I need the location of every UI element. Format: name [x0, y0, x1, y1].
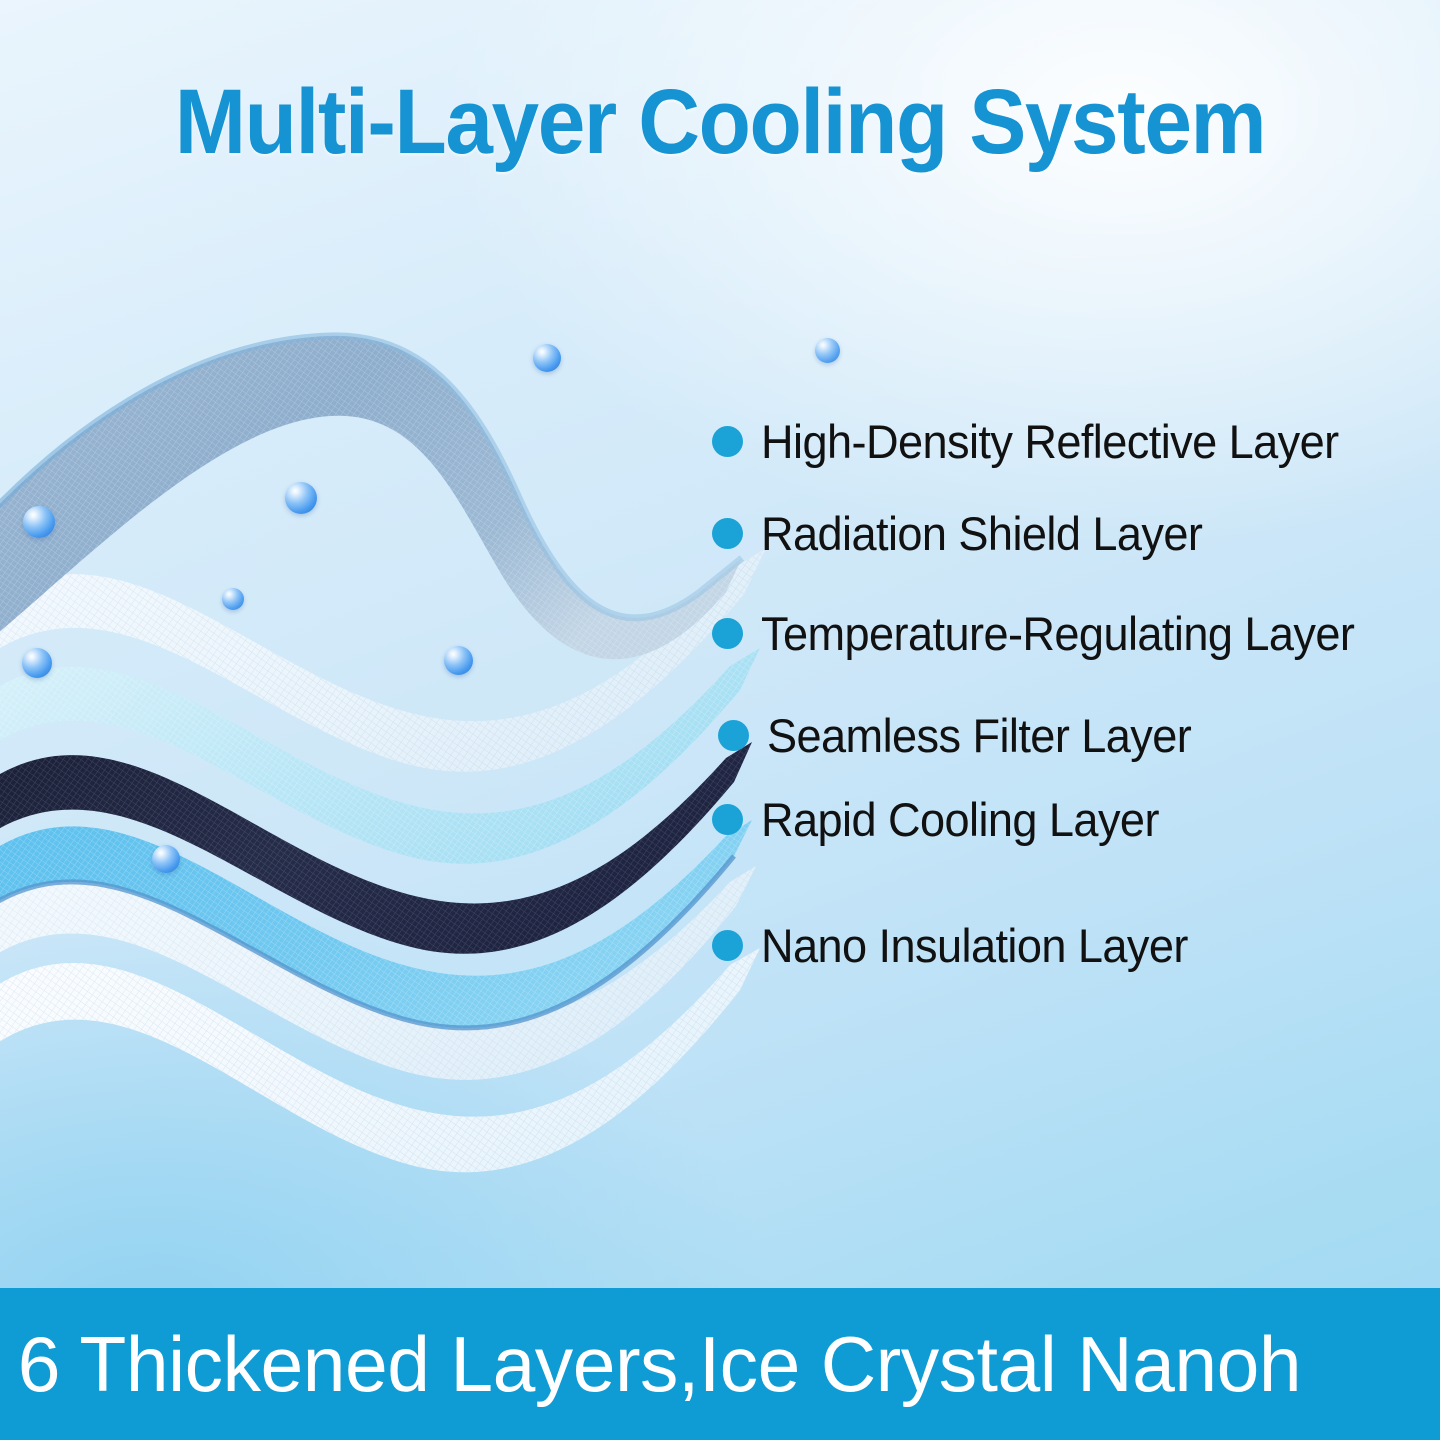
- water-droplet: [152, 845, 180, 873]
- layer-illustration: [0, 300, 820, 1180]
- list-item-label: Seamless Filter Layer: [767, 708, 1191, 763]
- water-droplet: [444, 646, 473, 675]
- list-item[interactable]: Seamless Filter Layer: [718, 708, 1209, 763]
- bullet-dot-icon: [712, 930, 743, 961]
- list-item-label: Nano Insulation Layer: [761, 918, 1188, 973]
- list-item[interactable]: Temperature-Regulating Layer: [712, 606, 1379, 661]
- bullet-dot-icon: [712, 518, 743, 549]
- fabric-layers-svg: [0, 300, 820, 1180]
- layer-radiation-shield: [0, 548, 766, 772]
- banner-text: 6 Thickened Layers,Ice Crystal Nanoh: [0, 1319, 1301, 1410]
- product-infographic: Multi-Layer Cooling System: [0, 0, 1440, 1440]
- bullet-dot-icon: [712, 804, 743, 835]
- bullet-dot-icon: [712, 618, 743, 649]
- list-item-label: Radiation Shield Layer: [761, 506, 1202, 561]
- list-item-label: Temperature-Regulating Layer: [761, 606, 1354, 661]
- water-droplet: [285, 482, 317, 514]
- list-item[interactable]: Nano Insulation Layer: [712, 918, 1206, 973]
- water-droplet: [22, 648, 52, 678]
- bullet-dot-icon: [712, 426, 743, 457]
- bottom-banner: 6 Thickened Layers,Ice Crystal Nanoh: [0, 1288, 1440, 1440]
- list-item-label: Rapid Cooling Layer: [761, 792, 1159, 847]
- page-title: Multi-Layer Cooling System: [50, 76, 1389, 168]
- water-droplet: [533, 344, 561, 372]
- list-item[interactable]: Rapid Cooling Layer: [712, 792, 1175, 847]
- list-item-label: High-Density Reflective Layer: [761, 414, 1339, 469]
- water-droplet: [815, 338, 840, 363]
- water-droplet: [222, 588, 244, 610]
- list-item[interactable]: High-Density Reflective Layer: [712, 414, 1363, 469]
- water-droplet: [23, 506, 55, 538]
- list-item[interactable]: Radiation Shield Layer: [712, 506, 1221, 561]
- bullet-dot-icon: [718, 720, 749, 751]
